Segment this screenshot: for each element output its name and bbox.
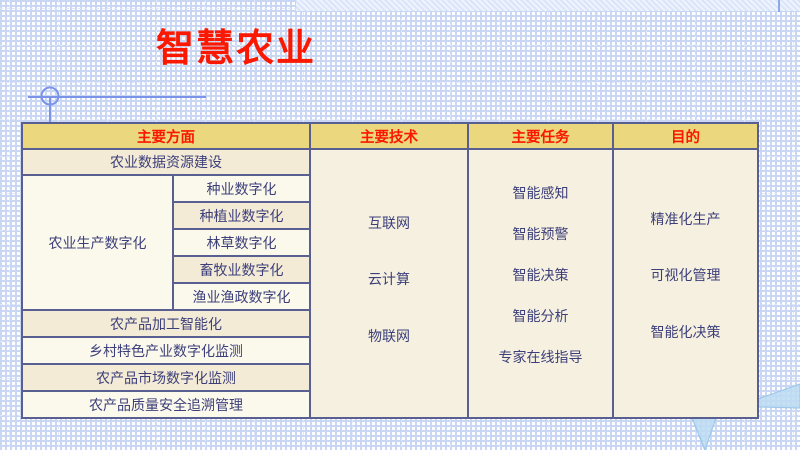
aspect-sub-forest-grass: 林草数字化: [173, 229, 310, 256]
aspect-rural-industry-monitoring: 乡村特色产业数字化监测: [22, 337, 310, 364]
smart-agriculture-matrix: 主要方面 主要技术 主要任务 目的 农业数据资源建设 互联网 云计算 物联网: [21, 122, 759, 419]
aspect-market-monitoring: 农产品市场数字化监测: [22, 364, 310, 391]
task-column: 智能感知 智能预警 智能决策 智能分析 专家在线指导: [468, 149, 613, 418]
page-title: 智慧农业: [156, 28, 316, 70]
table-header-row: 主要方面 主要技术 主要任务 目的: [22, 123, 758, 149]
aspect-quality-traceability: 农产品质量安全追溯管理: [22, 391, 310, 418]
table-row: 农业数据资源建设 互联网 云计算 物联网 智能感知 智能预警 智能决策: [22, 149, 758, 175]
technology-item-iot: 物联网: [368, 327, 410, 348]
task-item-sensing: 智能感知: [513, 184, 569, 205]
slide-canvas: 智慧农业 主要方面 主要技术 主要任务 目的 农业数据资源建设: [0, 0, 800, 450]
top-accent-band: [296, 0, 800, 11]
purpose-item-precision-production: 精准化生产: [651, 210, 721, 231]
task-item-decision: 智能决策: [513, 266, 569, 287]
grid-line-horizontal: [0, 119, 800, 120]
aspect-sub-livestock: 畜牧业数字化: [173, 256, 310, 283]
aspect-sub-seed: 种业数字化: [173, 175, 310, 202]
technology-item-cloud: 云计算: [368, 270, 410, 291]
task-item-expert-guidance: 专家在线指导: [499, 348, 583, 369]
aspect-sub-planting: 种植业数字化: [173, 202, 310, 229]
aspect-data-resource: 农业数据资源建设: [22, 149, 310, 175]
purpose-item-intelligent-decision: 智能化决策: [651, 323, 721, 344]
aspect-sub-fishery: 渔业渔政数字化: [173, 283, 310, 310]
grid-line-vertical: [9, 0, 10, 450]
aspect-group-production: 农业生产数字化: [22, 175, 173, 310]
technology-item-internet: 互联网: [368, 214, 410, 235]
purpose-column: 精准化生产 可视化管理 智能化决策: [613, 149, 758, 418]
grid-line-horizontal: [0, 82, 800, 83]
header-purpose: 目的: [613, 123, 758, 149]
purpose-item-visual-management: 可视化管理: [651, 266, 721, 287]
header-main-tasks: 主要任务: [468, 123, 613, 149]
header-main-aspects: 主要方面: [22, 123, 310, 149]
header-main-technologies: 主要技术: [310, 123, 468, 149]
task-item-warning: 智能预警: [513, 225, 569, 246]
technology-column: 互联网 云计算 物联网: [310, 149, 468, 418]
grid-line-vertical: [793, 0, 794, 450]
grid-line-horizontal: [0, 45, 800, 46]
connector-decoration: [28, 82, 208, 127]
top-accent-rule: [778, 0, 780, 12]
aspect-processing-intelligence: 农产品加工智能化: [22, 310, 310, 337]
task-item-analysis: 智能分析: [513, 307, 569, 328]
